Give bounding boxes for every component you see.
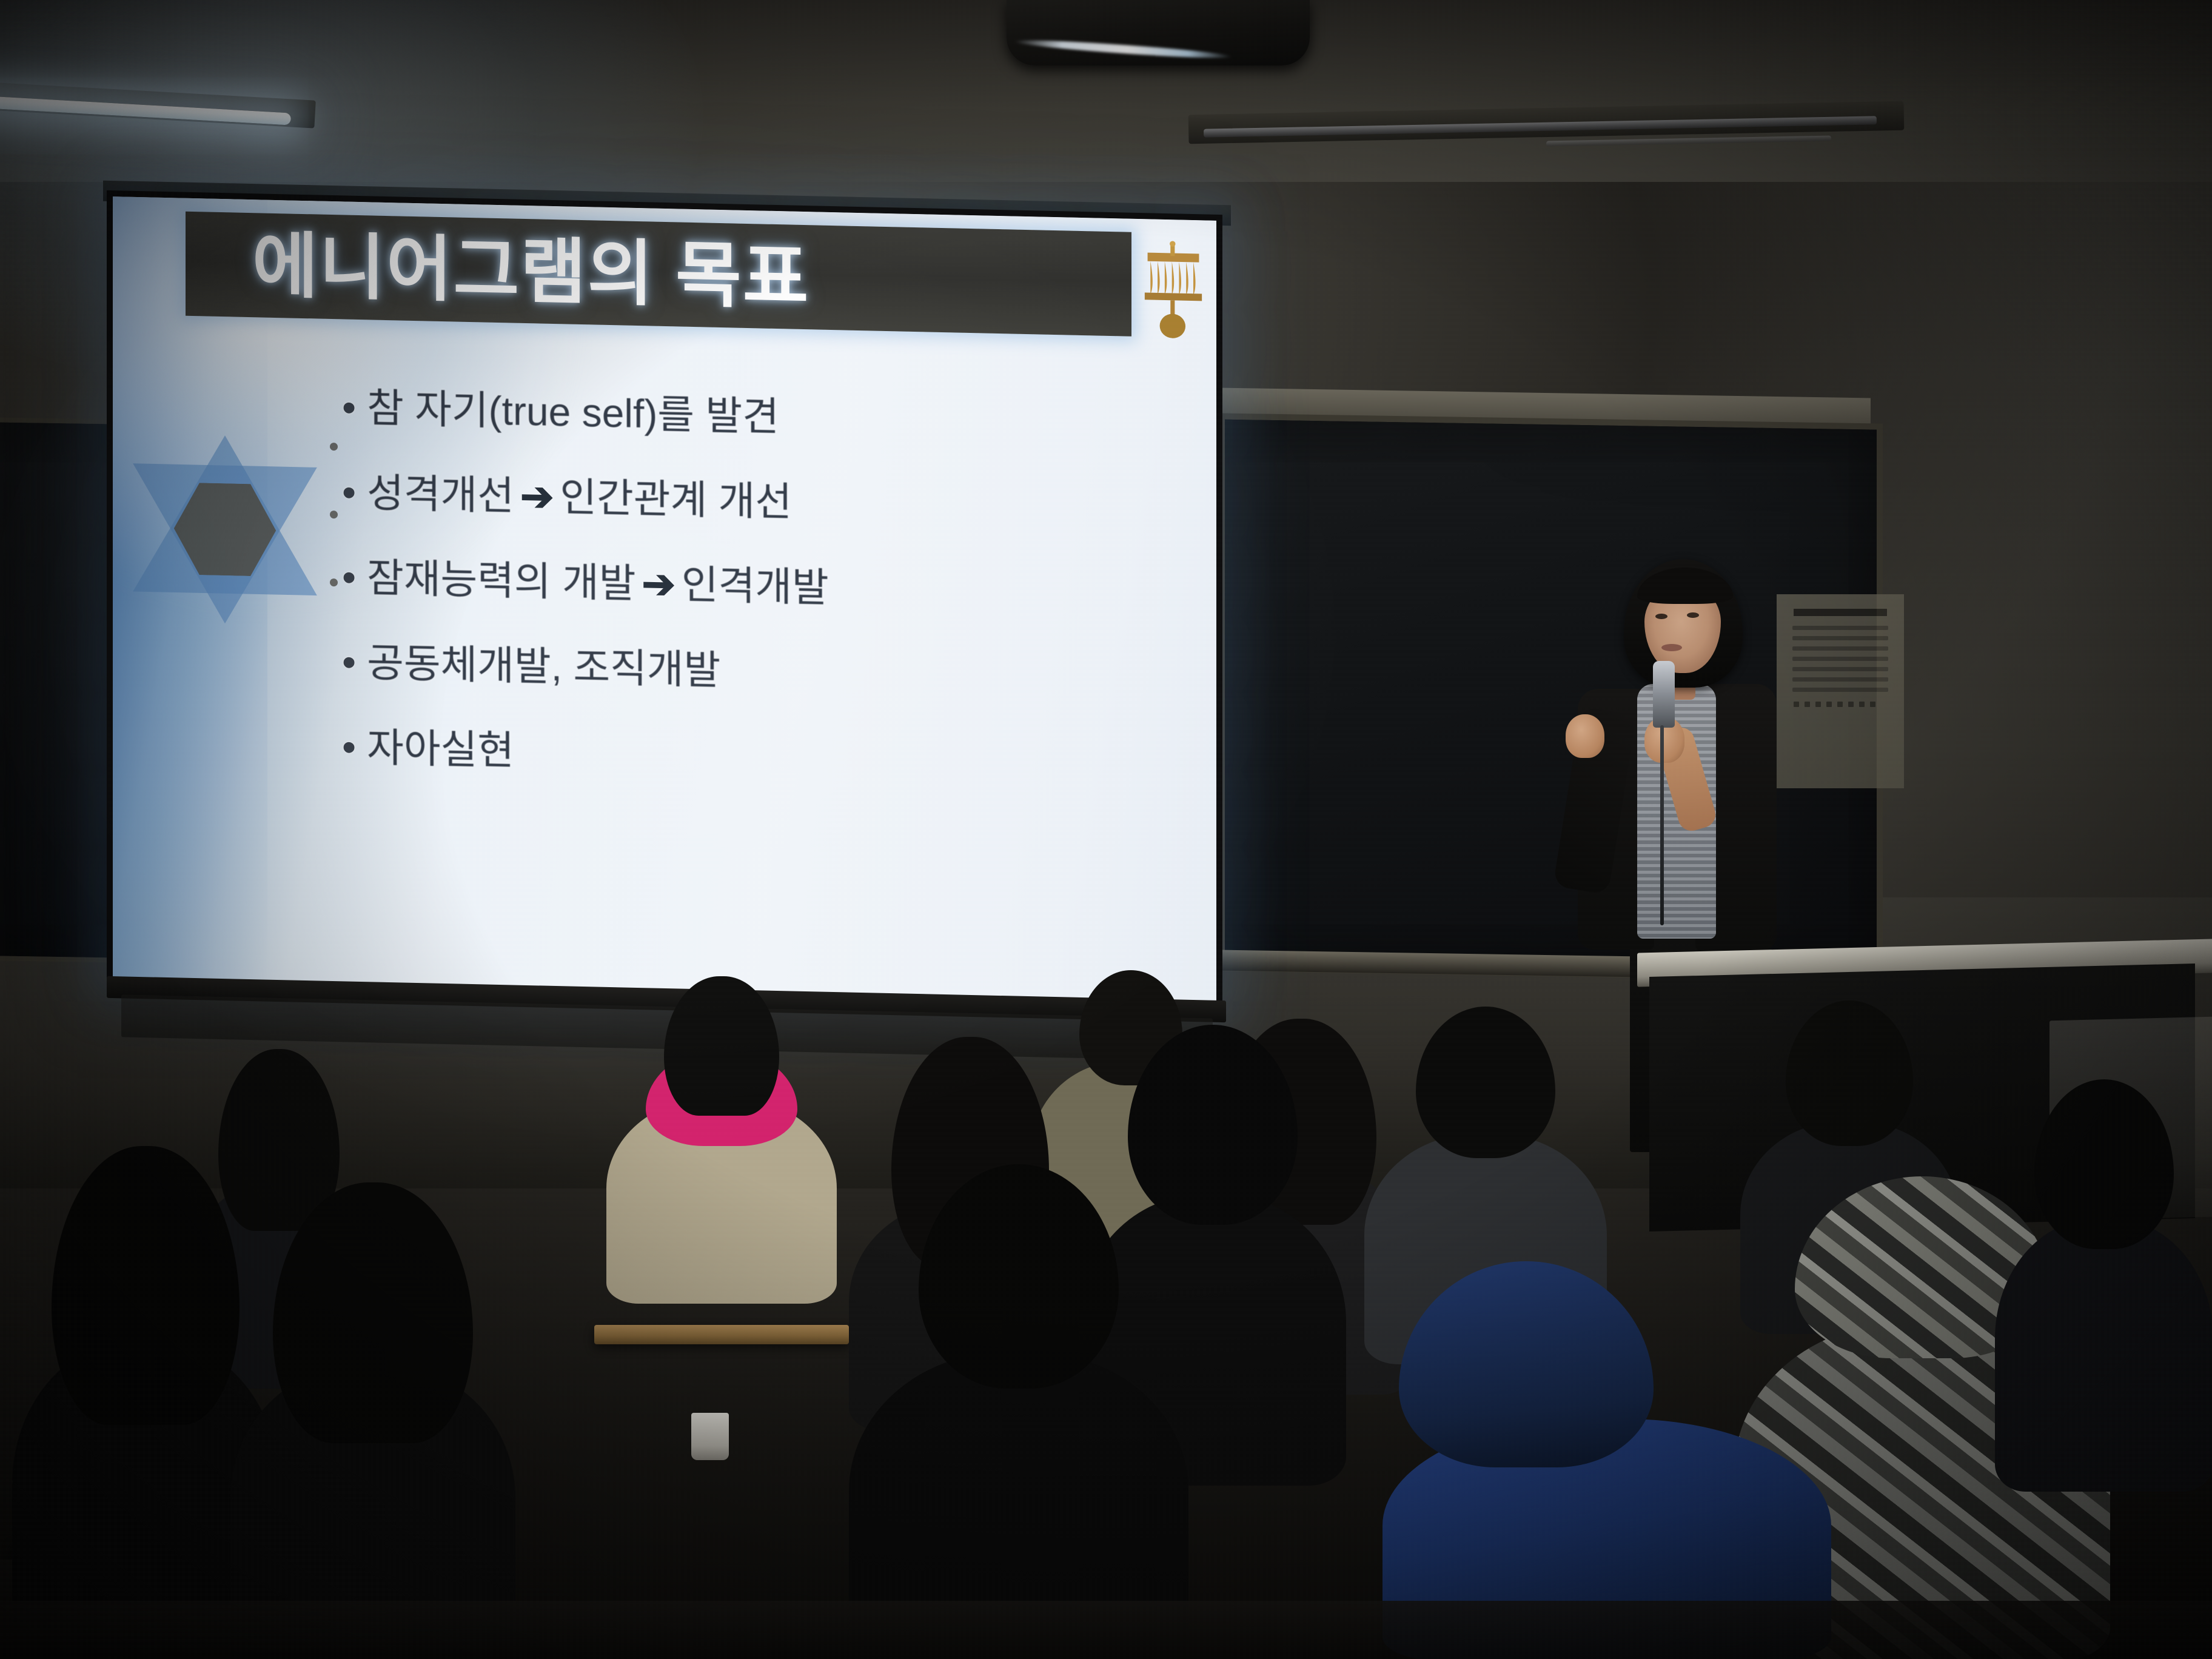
presenter-hand-left (1566, 714, 1604, 758)
presenter-eye-right (1687, 612, 1699, 618)
student-head (1786, 1000, 1913, 1146)
bullet-marker: • (342, 383, 356, 431)
list-item: • 잠재능력의 개발 ➔ 인격개발 (342, 553, 1179, 618)
bullet-marker: • (342, 638, 356, 686)
bullet-text: 참 자기(true self)를 발견 (367, 384, 779, 440)
slide-bullet-list: • 참 자기(true self)를 발견 • 성격개선 ➔ 인간관계 개선 •… (342, 383, 1179, 788)
student-front-center (849, 1152, 1188, 1659)
student-head (1416, 1007, 1555, 1158)
presenter-mouth (1661, 644, 1682, 651)
student-head (2034, 1079, 2174, 1249)
poster-tear-off-strip (1794, 702, 1887, 707)
projection-screen: 에니어그램의 목표 • 참 자기( (107, 190, 1222, 1009)
bullet-marker: • (342, 723, 356, 771)
projected-slide: 에니어그램의 목표 • 참 자기( (113, 196, 1216, 1003)
list-item: • 공동체개발, 조직개발 (342, 638, 1179, 703)
student-hair (52, 1146, 240, 1425)
gold-crown-ornament-icon (1138, 240, 1209, 341)
student-blue-puffer (1382, 1237, 1831, 1659)
foreground-shadow (0, 1601, 2212, 1659)
ceiling-mounted-projector (1007, 0, 1310, 65)
bullet-marker: • (342, 468, 356, 516)
bullet-text-before-arrow: 성격개선 (367, 469, 514, 519)
student-torso (1995, 1219, 2212, 1492)
student-pink-hood (606, 958, 837, 1298)
slide-title: 에니어그램의 목표 (252, 227, 1041, 321)
microphone-cable (1660, 725, 1664, 925)
student-front-left (230, 1176, 515, 1659)
bullet-text: 공동체개발, 조직개발 (367, 638, 720, 694)
paper-cup (691, 1413, 729, 1460)
student-puffer-hood-icon (1399, 1261, 1654, 1467)
bullet-text-before-arrow: 잠재능력의 개발 (367, 554, 635, 607)
bullet-text-after-arrow: 인간관계 개선 (560, 473, 792, 525)
lecture-hall-photo: 에니어그램의 목표 • 참 자기( (0, 0, 2212, 1659)
arrow-right-icon: ➔ (636, 560, 682, 608)
student-far-right-front (1995, 1067, 2212, 1492)
arrow-right-icon: ➔ (514, 472, 560, 521)
presenter-eye-left (1655, 614, 1667, 619)
desk-center-row (594, 1325, 849, 1344)
bullet-text: 자아실현 (367, 723, 514, 774)
bullet-marker: • (342, 553, 356, 601)
bullet-text-after-arrow: 인격개발 (682, 561, 829, 611)
list-item: • 성격개선 ➔ 인간관계 개선 (342, 468, 1179, 534)
student-hair (273, 1182, 473, 1443)
handheld-microphone (1653, 661, 1675, 728)
student-head (919, 1164, 1119, 1389)
poster-heading-bar (1794, 609, 1887, 616)
hexagram-star-icon (125, 427, 325, 632)
student-hair (664, 976, 779, 1116)
